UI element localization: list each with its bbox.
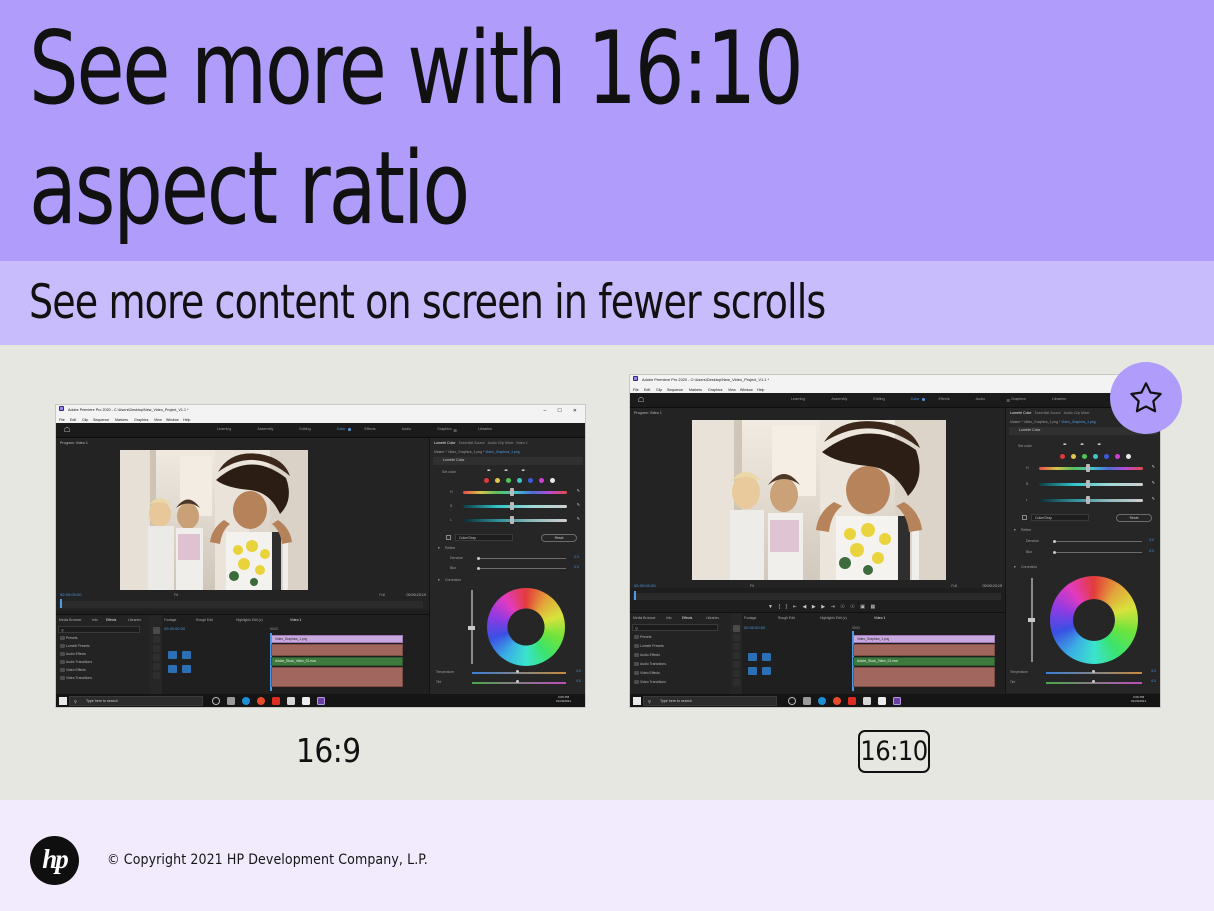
taskbar-search[interactable]: ⚲ Type here to search [69,696,203,706]
workspace-tab-graphics[interactable]: Graphics [424,427,465,431]
menubar-169[interactable]: File Edit Clip Sequence Markers Graphics… [56,416,585,423]
lumetri-breadcrumb[interactable]: Master * Video_Graphics_1.png * Video_Gr… [1010,420,1096,424]
menu-file[interactable]: File [633,388,639,392]
home-icon[interactable]: ☖ [63,427,71,435]
eyedropper-icon-3[interactable]: ✒ [521,468,525,474]
hue-pencil-icon[interactable]: ✎ [1152,464,1155,469]
timeline-clip-graphics[interactable]: Video_Graphics_1.png [853,635,995,643]
program-monitor-169: Program: Video 1 [56,438,429,610]
tint-slider[interactable] [472,682,566,684]
timeline-clip-video-bottom[interactable] [271,667,403,687]
tab-media-browser[interactable]: Media Browser [633,616,656,620]
saturation-slider[interactable] [1039,483,1143,486]
menu-file[interactable]: File [59,418,65,422]
hero-band: See more with 16:10 aspect ratio [0,0,1214,261]
program-monitor-tab[interactable]: Program: Video 1 [60,441,88,445]
bottom-panels-169: Media Browser Info Effects Libraries ⚲ P… [56,614,429,694]
program-scrubber[interactable] [59,601,423,608]
eyedropper-icon-2[interactable]: ✒ [1080,442,1084,448]
timeline-tab-highlights-edit[interactable]: Highlights Edit (v) [820,616,847,620]
color-gray-checkbox[interactable] [446,535,451,540]
extract-icon[interactable]: ☉ [850,604,854,610]
folder-icon-audio-effects [60,652,65,656]
workspace-overflow-icon[interactable]: ☰ [1006,398,1010,403]
menu-markers[interactable]: Markers [689,388,702,392]
swatch-yellow[interactable] [1071,454,1076,459]
hue-slider-knob[interactable] [1086,464,1090,472]
eyedropper-icon-2[interactable]: ✒ [504,468,508,474]
tab-effects[interactable]: Effects [682,616,692,620]
lift-icon[interactable]: ☉ [840,604,844,610]
timeline-ruler-label: 00:00 [852,626,860,630]
workspace-tab-audio[interactable]: Audio [963,397,998,401]
pen-tool-icon[interactable] [153,672,160,679]
transport-controls-1610[interactable]: ▼ { } ⇤ ◀ ▶ ▶ ⇥ ☉ ☉ ▣ ▦ [768,604,875,610]
saturation-slider-knob[interactable] [1086,480,1090,488]
timeline-panel-1610: Footage Rough Edit Highlights Edit (v) V… [730,613,1005,695]
menu-window[interactable]: Window [740,388,753,392]
window-controls-169[interactable]: – ☐ ✕ [544,408,577,414]
comparison-view-icon[interactable]: ▦ [870,604,875,610]
pen-tool-icon[interactable] [733,670,740,677]
menubar-1610[interactable]: File Edit Clip Sequence Markers Graphics… [630,386,1160,393]
source-track-v2[interactable] [182,651,191,659]
menu-edit[interactable]: Edit [644,388,650,392]
color-gray-dropdown[interactable]: Color/Gray [1031,514,1089,521]
eyedropper-group[interactable]: ✒ ✒ ✒ [1063,442,1102,448]
saturation-pencil-icon[interactable]: ✎ [577,502,580,507]
program-playhead[interactable] [60,599,62,608]
color-wheel[interactable] [487,588,565,666]
lumetri-breadcrumb[interactable]: Master * Video_Graphics_1.png * Video_Gr… [434,450,520,454]
timeline-clip-video-top[interactable] [271,644,403,656]
denoise-slider-knob[interactable] [1053,540,1056,543]
source-track-v1[interactable] [748,653,757,661]
swatch-yellow[interactable] [495,478,500,483]
export-frame-icon[interactable]: ▣ [860,604,865,610]
tab-info[interactable]: Info [666,616,672,620]
effects-item-presets[interactable]: Presets [640,635,652,639]
blur-label: Blur [450,566,456,570]
effects-item-video-effects[interactable]: Video Effects [640,671,660,675]
blur-slider[interactable] [1054,552,1142,553]
breadcrumb-master[interactable]: Master * Video_Graphics_1.png [434,450,482,454]
selection-tool-icon[interactable] [733,625,740,632]
clock-date: 01/20/2021 [556,699,571,703]
ripple-edit-tool-icon[interactable] [733,643,740,650]
source-track-a2[interactable] [182,665,191,673]
program-fit-dropdown[interactable]: Fit [174,593,178,597]
menu-sequence[interactable]: Sequence [667,388,683,392]
lumetri-tab-active[interactable]: Lumetri Color [1010,411,1032,415]
lumetri-tabs-1610[interactable]: Lumetri Color Essential Sound Audio Clip… [1010,411,1090,415]
workspace-tabs-169[interactable]: Learning Assembly Editing Color Effects … [204,427,505,431]
screenshot-16-10: Adobe Premiere Pro 2020 - C:\Users\Deskt… [630,375,1160,707]
workspace-tab-libraries[interactable]: Libraries [465,427,505,431]
workspace-tab-libraries[interactable]: Libraries [1039,397,1079,401]
step-back-icon[interactable]: ◀ [803,604,807,610]
folder-icon-audio-transitions [60,660,65,664]
refine-label: Refine [1021,528,1031,532]
program-video-frame [120,450,308,590]
clock-date: 01/20/2021 [1131,699,1146,703]
timeline-timecode[interactable]: 00:00:00:00 [744,626,765,630]
temperature-value[interactable]: 0.0 [576,669,581,673]
reset-button[interactable]: Reset [1116,514,1152,522]
taskbar-search[interactable]: ⚲ Type here to search [643,696,777,706]
lumetri-tab-video-1[interactable]: Video 1 [516,441,528,445]
saturation-slider-knob[interactable] [510,502,514,510]
denoise-slider-knob[interactable] [477,557,480,560]
task-view-icon[interactable] [803,697,811,705]
source-track-v2[interactable] [762,653,771,661]
chrome-icon[interactable] [257,697,265,705]
luma-slider-knob[interactable] [468,626,475,630]
hue-slider[interactable] [1039,467,1143,470]
window-titlebar-169: Adobe Premiere Pro 2020 - C:\Users\Deskt… [56,405,585,416]
swatch-blue[interactable] [528,478,533,483]
youtube-icon[interactable] [272,697,280,705]
timeline-tab-video-1[interactable]: Video 1 [874,616,885,620]
source-track-a1[interactable] [168,665,177,673]
hue-slider[interactable] [463,491,567,494]
swatch-blue[interactable] [1104,454,1109,459]
timeline-clip-audio-label: Adobe_Stock_Video_01.mov [275,659,316,663]
menu-help[interactable]: Help [757,388,764,392]
menu-help[interactable]: Help [183,418,190,422]
program-full-dropdown[interactable]: Full [379,593,385,597]
hp-logo-text: hp [42,846,67,873]
hsl-label-h: H [1026,466,1029,470]
effects-item-lumetri-presets[interactable]: Lumetri Presets [640,644,664,648]
tab-libraries[interactable]: Libraries [128,618,141,622]
marker-icon[interactable]: ▼ [768,604,773,610]
reset-button[interactable]: Reset [541,534,577,542]
window-titlebar-1610: Adobe Premiere Pro 2020 - C:\Users\Deskt… [630,375,1160,386]
mail-icon[interactable] [302,697,310,705]
program-scrubber[interactable] [633,593,1001,600]
eyedropper-group[interactable]: ✒ ✒ ✒ [487,468,526,474]
taskbar-search-placeholder: Type here to search [660,699,692,703]
minimize-icon[interactable]: – [544,408,547,414]
workspace-tab-graphics[interactable]: Graphics [998,397,1039,401]
denoise-label: Denoise [450,556,463,560]
folder-icon-lumetri [634,644,639,648]
razor-tool-icon[interactable] [153,654,160,661]
timeline-timecode[interactable]: 00:00:00:00 [164,627,185,631]
workspace-bar-1610: ☖ Learning Assembly Editing Color Effect… [630,393,1160,408]
swatch-magenta[interactable] [1115,454,1120,459]
slide-root: See more with 16:10 aspect ratio See mor… [0,0,1214,911]
breadcrumb-clip[interactable]: * Video_Graphics_1.png [483,450,520,454]
denoise-slider[interactable] [1054,541,1142,542]
menu-window[interactable]: Window [166,418,179,422]
swatch-red[interactable] [484,478,489,483]
tint-label: Tint [1010,680,1015,684]
lumetri-tab-audio-clip-mixer[interactable]: Audio Clip Mixer [1064,411,1090,415]
effects-item-video-transitions[interactable]: Video Transitions [66,676,92,680]
tint-value[interactable]: 0.0 [1151,679,1156,683]
task-view-icon[interactable] [227,697,235,705]
folder-icon-lumetri [60,644,65,648]
window-title-169: Adobe Premiere Pro 2020 - C:\Users\Deskt… [68,408,189,412]
program-full-dropdown[interactable]: Full [951,584,957,588]
premiere-icon[interactable] [893,697,901,705]
workspace-tab-effects[interactable]: Effects [351,427,388,431]
program-timecode-right[interactable]: 00:00:23:19 [983,584,1002,588]
timeline-clip-audio[interactable]: Adobe_Stock_Video_01.mov [271,657,403,666]
timeline-tab-highlights-edit[interactable]: Highlights Edit (v) [236,618,263,622]
lumetri-tab-essential-sound[interactable]: Essential Sound [459,441,485,445]
menu-clip[interactable]: Clip [656,388,662,392]
slip-tool-icon[interactable] [153,663,160,670]
timeline-clip-graphics-label: Video_Graphics_1.png [275,637,307,641]
menu-edit[interactable]: Edit [70,418,76,422]
effects-search-input[interactable]: ⚲ [632,624,718,631]
razor-tool-icon[interactable] [733,652,740,659]
taskbar-icons-169[interactable] [212,697,325,705]
cortana-icon[interactable] [212,697,220,705]
timeline-tab-footage[interactable]: Footage [744,616,756,620]
star-icon [1126,378,1166,418]
menu-graphics[interactable]: Graphics [134,418,148,422]
hue-slider-knob[interactable] [510,488,514,496]
lumetri-tab-essential-sound[interactable]: Essential Sound [1035,411,1061,415]
workspace-tab-editing[interactable]: Editing [286,427,323,431]
refine-twirl[interactable]: ▾ [438,546,440,550]
tab-libraries[interactable]: Libraries [706,616,719,620]
effects-item-video-transitions[interactable]: Video Transitions [640,680,666,684]
effects-item-audio-transitions[interactable]: Audio Transitions [640,662,666,666]
search-icon: ⚲ [61,628,64,633]
program-timecode-left[interactable]: 00:00:00:00 [60,592,82,597]
color-wheel[interactable] [1050,576,1138,664]
premiere-app-icon [59,406,64,411]
timeline-clip-video-bottom[interactable] [853,667,995,687]
luminance-slider-knob[interactable] [510,516,514,524]
swatch-cyan[interactable] [517,478,522,483]
temperature-slider[interactable] [472,672,566,674]
hsl-label-l: L [450,518,452,522]
taskbar-clock[interactable]: 4:09 PM 01/20/2021 [556,695,571,703]
start-icon[interactable] [633,697,641,705]
swatch-green[interactable] [1082,454,1087,459]
set-color-label: Set color [442,470,456,474]
luminance-slider-knob[interactable] [1086,496,1090,504]
folder-icon-video-transitions [60,676,65,680]
tint-value[interactable]: 0.0 [576,679,581,683]
swatch-red[interactable] [1060,454,1065,459]
play-icon[interactable]: ▶ [812,604,816,610]
source-track-a1[interactable] [748,667,757,675]
luminance-slider[interactable] [1039,499,1143,502]
mail-icon[interactable] [878,697,886,705]
blur-value[interactable]: 0.0 [574,565,579,569]
correction-twirl[interactable]: ▾ [438,578,440,582]
edge-icon[interactable] [242,697,250,705]
workspace-tab-audio[interactable]: Audio [389,427,424,431]
ripple-edit-tool-icon[interactable] [153,645,160,652]
tint-slider-knob[interactable] [516,680,519,683]
program-timecode-left[interactable]: 00:00:00:00 [634,583,656,588]
workspace-tab-editing[interactable]: Editing [860,397,897,401]
program-timecode-right[interactable]: 00:00:23:19 [407,593,426,597]
home-icon[interactable]: ☖ [637,397,645,405]
premiere-icon[interactable] [317,697,325,705]
menu-view[interactable]: View [154,418,162,422]
swatch-green[interactable] [506,478,511,483]
star-badge[interactable] [1110,362,1182,434]
effects-item-lumetri-presets[interactable]: Lumetri Presets [66,644,90,648]
tab-media-browser[interactable]: Media Browser [59,618,82,622]
denoise-slider[interactable] [478,558,566,559]
out-point-icon[interactable]: } [786,604,788,610]
search-icon: ⚲ [648,699,651,704]
menu-graphics[interactable]: Graphics [708,388,722,392]
maximize-icon[interactable]: ☐ [557,408,561,414]
set-color-label: Set color [1018,444,1032,448]
eyedropper-icon-1[interactable]: ✒ [1063,442,1067,448]
timeline-clip-audio[interactable]: Adobe_Stock_Video_01.mov [853,657,995,666]
lumetri-tabs-169[interactable]: Lumetri Color Essential Sound Audio Clip… [434,441,528,445]
workspace-tab-learning[interactable]: Learning [778,397,818,401]
swatch-cyan[interactable] [1093,454,1098,459]
copyright-text: © Copyright 2021 HP Development Company,… [107,852,428,868]
taskbar-clock[interactable]: 4:09 PM 01/20/2021 [1131,695,1146,703]
type-tool-icon[interactable] [733,679,740,686]
blur-slider[interactable] [478,568,566,569]
caption-16-9: 16:9 [296,731,361,770]
effects-item-audio-effects[interactable]: Audio Effects [66,652,86,656]
program-fit-dropdown[interactable]: Fit [750,584,754,588]
taskbar-icons-1610[interactable] [788,697,901,705]
color-gray-checkbox[interactable] [1022,515,1027,520]
temperature-slider-knob[interactable] [1092,670,1095,673]
source-track-v1[interactable] [168,651,177,659]
effects-item-video-effects[interactable]: Video Effects [66,668,86,672]
timeline-panel-169: Footage Rough Edit Highlights Edit (v) V… [150,615,429,695]
luminance-pencil-icon[interactable]: ✎ [577,516,580,521]
folder-icon-audio-transitions [634,662,639,666]
slip-tool-icon[interactable] [733,661,740,668]
lumetri-section-header[interactable]: Lumetri Color [433,457,583,465]
step-forward-icon[interactable]: ▶ [821,604,825,610]
correction-twirl[interactable]: ▾ [1014,565,1016,569]
timeline-clip-video-top[interactable] [853,644,995,656]
color-swatch-group[interactable] [1060,454,1131,459]
temperature-slider-knob[interactable] [516,670,519,673]
tab-effects[interactable]: Effects [106,618,116,622]
effects-item-presets[interactable]: Presets [66,636,78,640]
blur-value[interactable]: 0.0 [1149,549,1154,553]
luminance-pencil-icon[interactable]: ✎ [1152,496,1155,501]
track-select-tool-icon[interactable] [153,636,160,643]
workspace-tabs-1610[interactable]: Learning Assembly Editing Color Effects … [778,397,1079,401]
source-track-a2[interactable] [762,667,771,675]
start-icon[interactable] [59,697,67,705]
breadcrumb-clip[interactable]: * Video_Graphics_1.png [1059,420,1096,424]
hsl-label-s: S [1026,482,1028,486]
blur-label: Blur [1026,550,1032,554]
effects-item-audio-effects[interactable]: Audio Effects [640,653,660,657]
blur-slider-knob[interactable] [1053,551,1056,554]
workspace-overflow-icon[interactable]: ☰ [453,428,457,433]
store-icon[interactable] [863,697,871,705]
swatch-white[interactable] [550,478,555,483]
refine-twirl[interactable]: ▾ [1014,528,1016,532]
workspace-tab-effects[interactable]: Effects [925,397,962,401]
track-select-tool-icon[interactable] [733,634,740,641]
blur-slider-knob[interactable] [477,567,480,570]
saturation-pencil-icon[interactable]: ✎ [1152,480,1155,485]
color-swatch-group[interactable] [484,478,555,483]
program-monitor-tab[interactable]: Program: Video 1 [634,411,662,415]
workspace-tab-assembly[interactable]: Assembly [818,397,860,401]
timeline-tab-video-1[interactable]: Video 1 [290,618,301,622]
tint-slider-knob[interactable] [1092,680,1095,683]
timeline-tab-rough-edit[interactable]: Rough Edit [196,618,213,622]
lumetri-panel-1610: Lumetri Color Essential Sound Audio Clip… [1005,408,1160,693]
close-icon[interactable]: ✕ [573,408,577,414]
workspace-tab-learning[interactable]: Learning [204,427,244,431]
menu-markers[interactable]: Markers [115,418,128,422]
reset-label: Reset [555,536,564,540]
tab-info[interactable]: Info [92,618,98,622]
effects-item-audio-transitions[interactable]: Audio Transitions [66,660,92,664]
temperature-label: Temperature [1010,670,1028,674]
eyedropper-icon-3[interactable]: ✒ [1097,442,1101,448]
swatch-magenta[interactable] [539,478,544,483]
timeline-ruler-label: 00:00 [270,627,278,631]
menu-view[interactable]: View [728,388,736,392]
in-point-icon[interactable]: { [778,604,780,610]
menu-clip[interactable]: Clip [82,418,88,422]
timeline-tab-footage[interactable]: Footage [164,618,176,622]
taskbar-169: ⚲ Type here to search 4:09 PM 01/20/2021 [56,694,585,707]
chrome-icon[interactable] [833,697,841,705]
youtube-icon[interactable] [848,697,856,705]
lumetri-tab-audio-clip-mixer[interactable]: Audio Clip Mixer [488,441,514,445]
temperature-value[interactable]: 0.0 [1151,669,1156,673]
workspace-tab-assembly[interactable]: Assembly [244,427,286,431]
lumetri-tab-active[interactable]: Lumetri Color [434,441,456,445]
luma-slider-knob[interactable] [1028,618,1035,622]
color-gray-dropdown[interactable]: Color/Gray [455,534,513,541]
denoise-value[interactable]: 0.0 [1149,538,1154,542]
breadcrumb-master[interactable]: Master * Video_Graphics_1.png [1010,420,1058,424]
program-playhead[interactable] [634,591,636,600]
saturation-slider[interactable] [463,505,567,508]
go-to-out-icon[interactable]: ⇥ [831,604,835,610]
edge-icon[interactable] [818,697,826,705]
denoise-value[interactable]: 0.0 [574,555,579,559]
cortana-icon[interactable] [788,697,796,705]
eyedropper-icon-1[interactable]: ✒ [487,468,491,474]
swatch-white[interactable] [1126,454,1131,459]
effects-search-input[interactable]: ⚲ [58,626,140,633]
hue-pencil-icon[interactable]: ✎ [577,488,580,493]
taskbar-1610: ⚲ Type here to search 4:09 PM 01/20/2021 [630,694,1160,707]
selection-tool-icon[interactable] [153,627,160,634]
luminance-slider[interactable] [463,519,567,522]
caption-16-10: 16:10 [860,736,928,767]
timeline-tab-rough-edit[interactable]: Rough Edit [778,616,795,620]
go-to-in-icon[interactable]: ⇤ [793,604,797,610]
hsl-label-l: L [1026,498,1028,502]
menu-sequence[interactable]: Sequence [93,418,109,422]
store-icon[interactable] [287,697,295,705]
timeline-clip-graphics[interactable]: Video_Graphics_1.png [271,635,403,643]
